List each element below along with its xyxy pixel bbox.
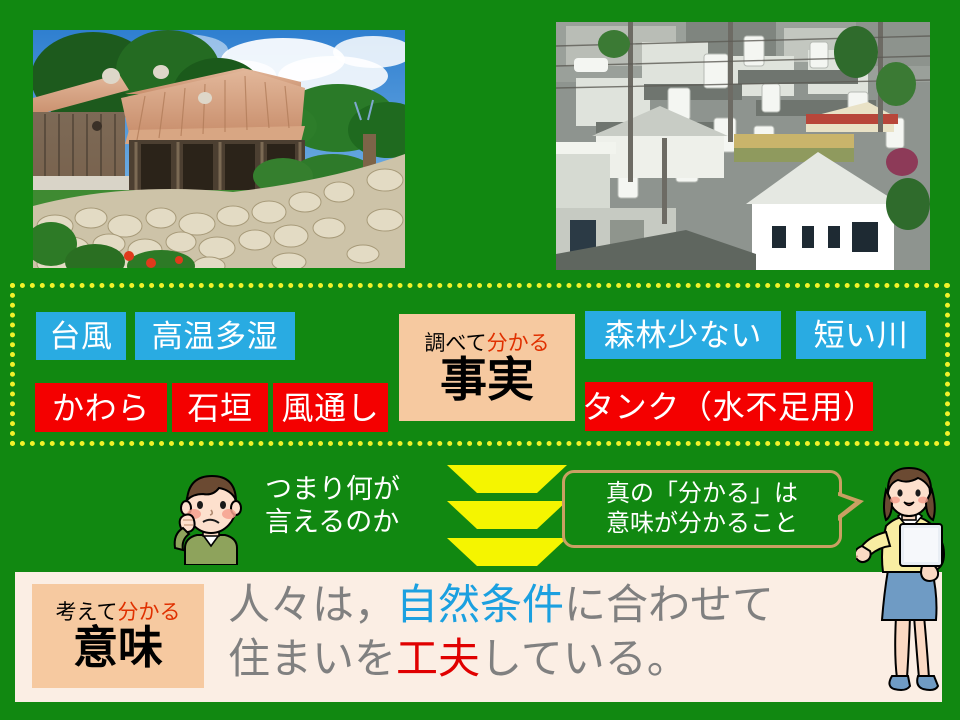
teacher-speech-text: 真の「分かる」は 意味が分かること bbox=[606, 479, 798, 539]
down-arrow-icon-2 bbox=[447, 501, 567, 529]
fact-chip-ishigaki[interactable]: 石垣 bbox=[172, 383, 268, 432]
photo-modern-houses-with-water-tanks bbox=[556, 22, 930, 270]
meaning-key-box: 考えて分かる 意味 bbox=[32, 584, 204, 688]
conclusion-seg-1: 人々は， bbox=[228, 583, 396, 629]
fact-key-box: 調べて分かる 事実 bbox=[399, 314, 575, 421]
teacher-speech-bubble: 真の「分かる」は 意味が分かること bbox=[562, 470, 842, 548]
conclusion-seg-3: 住まいを bbox=[228, 637, 396, 683]
fact-chip-kawara[interactable]: かわら bbox=[35, 383, 167, 432]
meaning-big-label: 意味 bbox=[73, 625, 163, 670]
fact-chip-kazetoshi[interactable]: 風通し bbox=[273, 383, 388, 432]
conclusion-keyword-ingenuity: 工夫 bbox=[396, 637, 480, 683]
down-arrows-group bbox=[447, 462, 509, 570]
meaning-lead: 考えて分かる bbox=[56, 602, 181, 623]
speech-bubble-tail-inner bbox=[836, 495, 855, 517]
boy-question-text: つまり何が 言えるのか bbox=[265, 473, 445, 539]
fact-chip-forest[interactable]: 森林少ない bbox=[585, 311, 781, 359]
meaning-lead-highlight: 分かる bbox=[117, 601, 180, 624]
teacher-illustration bbox=[856, 466, 960, 720]
fact-lead: 調べて分かる bbox=[424, 333, 549, 354]
fact-big-label: 事実 bbox=[440, 356, 534, 403]
fact-lead-plain: 調べて bbox=[424, 332, 486, 355]
conclusion-sentence: 人々は，自然条件に合わせて住まいを工夫している。 bbox=[228, 580, 918, 688]
photo-traditional-okinawan-house bbox=[33, 30, 405, 268]
down-arrow-icon-3 bbox=[447, 538, 567, 566]
conclusion-seg-4: している。 bbox=[480, 637, 689, 683]
conclusion-seg-2: に合わせて bbox=[564, 583, 774, 629]
fact-lead-highlight: 分かる bbox=[487, 332, 550, 355]
thinking-boy-illustration bbox=[167, 468, 255, 565]
fact-chip-tank[interactable]: タンク（水不足用） bbox=[585, 382, 873, 431]
meaning-lead-plain: 考えて bbox=[56, 601, 118, 624]
fact-chip-river[interactable]: 短い川 bbox=[796, 311, 926, 359]
fact-chip-humid[interactable]: 高温多湿 bbox=[135, 312, 295, 360]
slide-canvas: 調べて分かる 事実 台風 高温多湿 森林少ない 短い川 かわら 石垣 風通し タ… bbox=[0, 0, 960, 720]
fact-chip-typhoon[interactable]: 台風 bbox=[36, 312, 126, 360]
down-arrow-icon-1 bbox=[447, 465, 567, 493]
conclusion-keyword-natural-conditions: 自然条件 bbox=[396, 583, 564, 629]
